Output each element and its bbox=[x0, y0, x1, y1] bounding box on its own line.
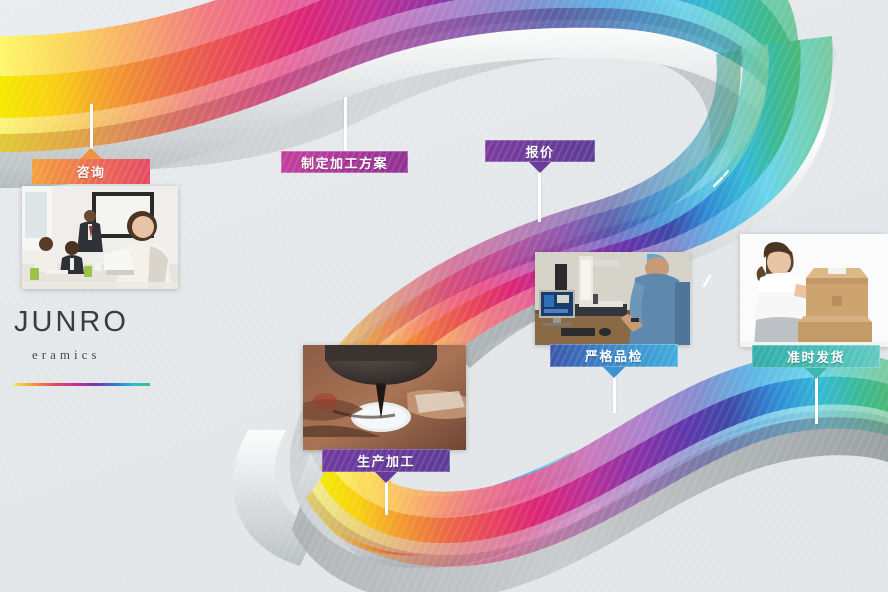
step-label-delivery[interactable]: 准时发货 bbox=[752, 345, 880, 368]
step-photo-consultation bbox=[22, 186, 178, 289]
step-label-quotation[interactable]: 报价 bbox=[485, 140, 595, 162]
connector-stem-delivery bbox=[815, 376, 818, 424]
packing-photo-illustration bbox=[740, 234, 888, 347]
connector-stem-inspection bbox=[613, 375, 616, 413]
connector-stem-quotation bbox=[538, 170, 541, 222]
step-photo-inspection bbox=[535, 252, 690, 345]
connector-stem-production bbox=[385, 480, 388, 515]
step-label-processing-plan[interactable]: 制定加工方案 bbox=[281, 151, 408, 173]
step-label-text: 准时发货 bbox=[787, 347, 845, 366]
cnc-machining-photo-illustration bbox=[303, 345, 466, 450]
logo-block: JUNRO eramics bbox=[14, 308, 174, 386]
step-label-text: 咨询 bbox=[76, 162, 105, 181]
step-label-text: 制定加工方案 bbox=[301, 153, 388, 172]
step-label-inspection[interactable]: 严格品检 bbox=[550, 344, 678, 367]
step-label-production[interactable]: 生产加工 bbox=[322, 449, 450, 472]
logo-subtitle: eramics bbox=[32, 348, 174, 361]
logo-brand: JUNRO bbox=[14, 308, 174, 337]
step-label-text: 生产加工 bbox=[357, 451, 415, 470]
step-label-text: 报价 bbox=[525, 142, 554, 161]
connector-stem-processing-plan bbox=[344, 97, 347, 153]
step-label-text: 严格品检 bbox=[585, 346, 643, 365]
step-label-consultation[interactable]: 咨询 bbox=[32, 159, 150, 184]
logo-gradient-rule bbox=[14, 383, 150, 386]
step-photo-production bbox=[303, 345, 466, 450]
step-photo-delivery bbox=[740, 234, 888, 347]
inspection-photo-illustration bbox=[535, 252, 690, 345]
infographic-canvas: JUNRO eramics 咨询 bbox=[0, 0, 888, 592]
meeting-photo-illustration bbox=[22, 186, 178, 289]
